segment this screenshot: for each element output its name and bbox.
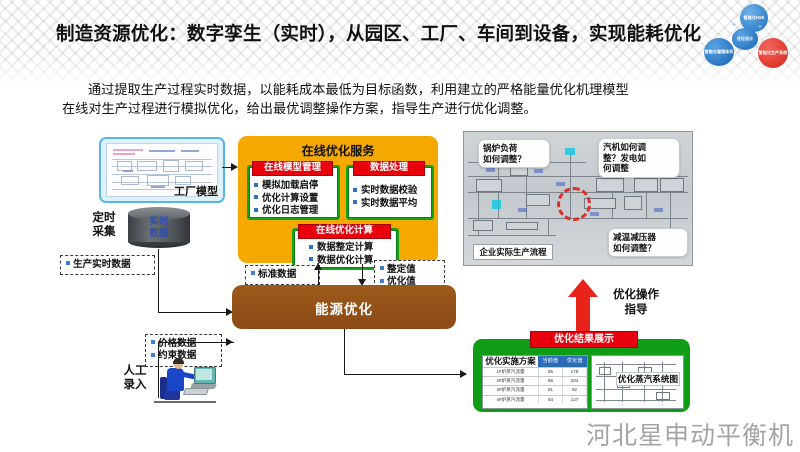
logo-plus-icon-1: +	[732, 22, 736, 29]
manual-entry-group: 人工 录入	[118, 355, 218, 407]
db-label-line-2: 数据	[149, 228, 169, 239]
energy-optimization-bar: 能源优化	[232, 285, 456, 329]
company-logo: 智能化HSE 优化设计 智能化管理体系 智能化生产系统 + + +	[696, 2, 794, 72]
page-title: 制造资源优化：数字孪生（实时），从园区、工厂、车间到设备，实现能耗优化	[56, 20, 696, 46]
note-production-realtime-data-label: 生产实时数据	[73, 259, 131, 270]
note-standard-data: 标准数据	[245, 265, 320, 285]
architecture-diagram: 工厂模型 定时 采集 实时 数据 生产实时数据 在线优化服务 在线模型管理 模拟…	[0, 118, 800, 450]
timed-collection-label: 定时 采集	[83, 212, 125, 239]
note-standard-data-label: 标准数据	[258, 269, 296, 280]
timed-collection-line-1: 定时	[93, 212, 116, 224]
callout-boiler-line-2: 如何调整？	[483, 154, 526, 164]
table-col-current: 当前值	[538, 356, 563, 367]
table-row: 1#炉蒸汽流量 85 178	[483, 367, 587, 376]
plant-process-label: 企业实际生产流程	[473, 244, 553, 260]
logo-plus-icon-3: +	[758, 24, 762, 31]
timed-collection-line-2: 采集	[93, 226, 116, 238]
arrowhead-manual-to-energy	[226, 338, 233, 346]
intro-line-2: 在线对生产过程进行模拟优化，给出最优调整操作方案，指导生产进行优化调整。	[62, 99, 738, 118]
arrowhead-energy-to-results	[460, 370, 467, 378]
calc-item-0: 数据整定计算	[309, 241, 392, 254]
connector-db-to-energy	[158, 312, 234, 313]
intro-line-1: 通过提取生产过程实时数据，以能耗成本最低为目标函数，利用建立的严格能量优化机理模…	[62, 80, 738, 99]
realtime-data-database: 实时 数据	[128, 207, 190, 249]
arrowhead-energy-up	[314, 263, 322, 270]
optimization-result-panel: 优化实施方案 当前值 优化值 1#炉蒸汽流量 85 178 2#炉蒸汽流量 96…	[473, 339, 690, 412]
logo-node-management: 智能化管理体系	[704, 38, 734, 66]
callout-boiler-line-1: 锅炉负荷	[483, 143, 517, 153]
model-item-2: 优化日志管理	[254, 204, 333, 217]
note-setvalue-label: 整定值	[387, 264, 416, 275]
callout-turbine-adjust: 汽机如何调 整？发电如 何调整	[598, 138, 680, 178]
callout-turbine-line-1: 汽机如何调	[603, 142, 646, 152]
optimization-guidance-arrow	[568, 279, 598, 332]
optimization-guidance-label: 优化操作 指导	[600, 288, 672, 318]
service-title: 在线优化服务	[238, 141, 438, 159]
table-row: 4#炉蒸汽流量 64 127	[483, 395, 587, 404]
card-head-model-management: 在线模型管理	[252, 161, 333, 176]
opt-guide-line-2: 指导	[625, 304, 648, 316]
connector-manual-to-energy	[158, 342, 234, 343]
intro-paragraph: 通过提取生产过程实时数据，以能耗成本最低为目标函数，利用建立的严格能量优化机理模…	[62, 80, 738, 118]
model-item-0: 模拟加载启停	[254, 179, 333, 192]
table-header-row: 优化实施方案 当前值 优化值	[483, 356, 587, 367]
manual-entry-line-2: 录入	[124, 379, 147, 391]
table-row: 2#炉蒸汽流量 96 204	[483, 376, 587, 385]
logo-node-design: 优化设计	[732, 28, 758, 50]
callout-turbine-line-3: 何调整	[603, 163, 629, 173]
callout-desuper-line-1: 减温减压器	[613, 232, 656, 242]
connector-energy-up	[318, 268, 319, 285]
logo-node-production: 智能化生产系统	[758, 38, 788, 68]
callout-desuper-line-2: 如何调整？	[613, 243, 656, 253]
logo-plus-icon-2: +	[738, 47, 742, 54]
factory-model-label: 工厂模型	[174, 183, 218, 199]
factory-model-box: 工厂模型	[99, 137, 225, 203]
db-label: 实时 数据	[128, 216, 190, 239]
energy-optimization-label: 能源优化	[232, 298, 456, 318]
card-head-online-calculation: 在线优化计算	[298, 224, 391, 239]
data-item-1: 实时数据平均	[353, 197, 427, 210]
db-label-line-1: 实时	[149, 216, 169, 227]
manual-entry-label: 人工 录入	[118, 365, 152, 392]
opt-guide-line-1: 优化操作	[613, 289, 659, 301]
table-col-optimized: 优化值	[563, 356, 588, 367]
optimization-plan-table: 优化实施方案 当前值 优化值 1#炉蒸汽流量 85 178 2#炉蒸汽流量 96…	[482, 355, 588, 409]
table-title: 优化实施方案	[483, 356, 538, 367]
highlight-circle-icon	[557, 187, 591, 221]
online-optimization-service-panel: 在线优化服务 在线模型管理 模拟加载启停 优化计算设置 优化日志管理 数据处理 …	[238, 136, 438, 263]
table-row: 3#炉蒸汽流量 81 92	[483, 385, 587, 394]
watermark: 河北星申动平衡机	[586, 416, 794, 452]
callout-boiler-load: 锅炉负荷 如何调整？	[478, 139, 550, 168]
actual-production-process-image: 锅炉负荷 如何调整？ 汽机如何调 整？发电如 何调整 减温减压器 如何调整？ 企…	[463, 131, 693, 266]
card-head-data-processing: 数据处理	[353, 161, 425, 176]
arrowhead-factory-to-service	[231, 163, 238, 171]
callout-turbine-line-2: 整？发电如	[603, 153, 646, 163]
optimization-result-header: 优化结果展示	[530, 331, 638, 348]
optimized-steam-system-diagram: 优化蒸汽系统图	[591, 355, 684, 409]
operator-at-computer-icon	[154, 357, 216, 405]
note-production-realtime-data: 生产实时数据	[60, 255, 155, 275]
callout-desuperheater: 减温减压器 如何调整？	[608, 228, 688, 257]
data-item-0: 实时数据校验	[353, 184, 427, 197]
steam-diagram-label: 优化蒸汽系统图	[616, 372, 680, 386]
connector-db-down	[158, 249, 159, 313]
manual-entry-line-1: 人工	[124, 365, 147, 377]
connector-energy-down	[344, 329, 345, 375]
connector-energy-to-results	[344, 374, 466, 375]
model-item-1: 优化计算设置	[254, 192, 333, 205]
